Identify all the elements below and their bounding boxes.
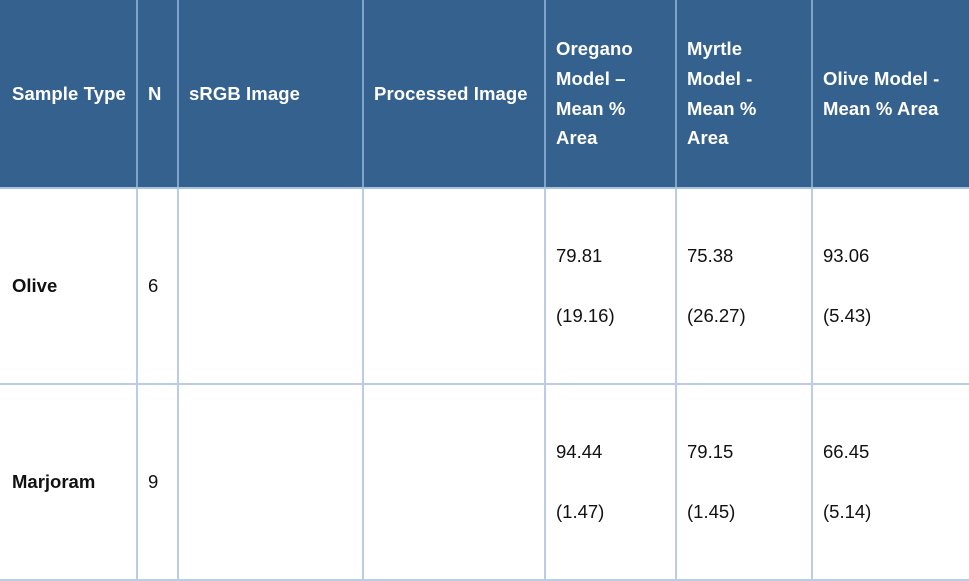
column-header-myrtle-model: Myrtle Model - Mean % Area — [676, 0, 812, 188]
cell-processed-image — [363, 384, 545, 580]
column-header-olive-model: Olive Model - Mean % Area — [812, 0, 969, 188]
column-header-n: N — [137, 0, 178, 188]
cell-olive-value: 93.06 (5.43) — [812, 188, 969, 384]
oregano-mean: 94.44 — [556, 437, 665, 467]
table-row: Olive 6 — [0, 188, 969, 384]
table-body: Olive 6 — [0, 188, 969, 580]
cell-n-count: 9 — [137, 384, 178, 580]
myrtle-mean: 79.15 — [687, 437, 801, 467]
header-row: Sample Type N sRGB Image Processed Image… — [0, 0, 969, 188]
cell-myrtle-value: 79.15 (1.45) — [676, 384, 812, 580]
table-container: Sample Type N sRGB Image Processed Image… — [0, 0, 969, 581]
cell-sample-type: Olive — [0, 188, 137, 384]
column-header-processed-image: Processed Image — [363, 0, 545, 188]
model-comparison-table: Sample Type N sRGB Image Processed Image… — [0, 0, 969, 581]
cell-myrtle-value: 75.38 (26.27) — [676, 188, 812, 384]
cell-olive-value: 66.45 (5.14) — [812, 384, 969, 580]
processed-image-marjoram — [374, 401, 537, 563]
processed-image-olive — [374, 205, 537, 367]
cell-n-count: 6 — [137, 188, 178, 384]
cell-srgb-image — [178, 188, 363, 384]
srgb-image-marjoram — [186, 401, 351, 563]
column-header-sample-type: Sample Type — [0, 0, 137, 188]
oregano-mean: 79.81 — [556, 241, 665, 271]
table-header: Sample Type N sRGB Image Processed Image… — [0, 0, 969, 188]
srgb-image-olive — [186, 205, 351, 367]
cell-oregano-value: 94.44 (1.47) — [545, 384, 676, 580]
olive-mean: 66.45 — [823, 437, 959, 467]
olive-sd: (5.43) — [823, 301, 959, 331]
oregano-sd: (1.47) — [556, 497, 665, 527]
myrtle-sd: (1.45) — [687, 497, 801, 527]
cell-oregano-value: 79.81 (19.16) — [545, 188, 676, 384]
cell-srgb-image — [178, 384, 363, 580]
column-header-oregano-model: Oregano Model – Mean % Area — [545, 0, 676, 188]
olive-sd: (5.14) — [823, 497, 959, 527]
myrtle-sd: (26.27) — [687, 301, 801, 331]
column-header-srgb-image: sRGB Image — [178, 0, 363, 188]
table-row: Marjoram 9 — [0, 384, 969, 580]
myrtle-mean: 75.38 — [687, 241, 801, 271]
oregano-sd: (19.16) — [556, 301, 665, 331]
olive-mean: 93.06 — [823, 241, 959, 271]
cell-sample-type: Marjoram — [0, 384, 137, 580]
cell-processed-image — [363, 188, 545, 384]
